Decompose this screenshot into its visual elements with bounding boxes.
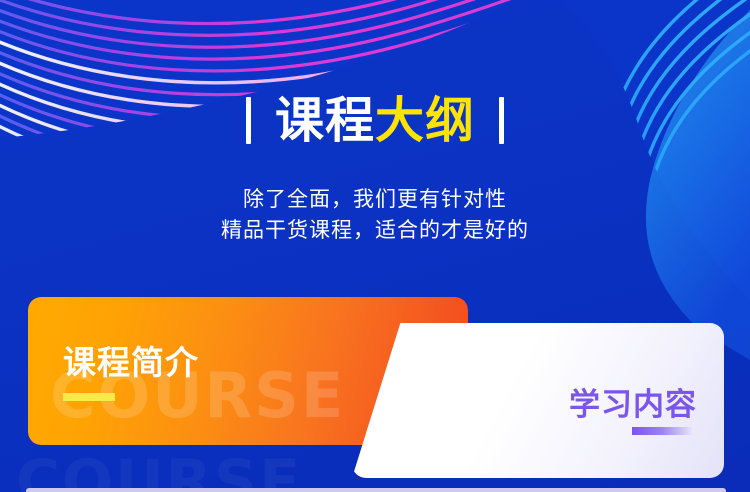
ghost-watermark-text: COURSE [16,447,302,492]
title-text: 课程大纲 [275,96,475,145]
subtitle-line-1: 除了全面，我们更有针对性 [0,184,750,215]
subtitle-block: 除了全面，我们更有针对性 精品干货课程，适合的才是好的 [0,184,750,246]
card-course-intro-underline [63,393,115,401]
page-title: 课程大纲 [0,96,750,145]
wave-top-left [0,0,610,178]
title-text-primary: 课程 [275,92,375,149]
course-outline-poster: 课程大纲 除了全面，我们更有针对性 精品干货课程，适合的才是好的 COURSE … [0,0,750,492]
card-study-content-underline [632,427,692,435]
wave-right [540,0,750,360]
bottom-edge-bar [26,488,726,492]
card-study-content[interactable]: 学习内容 [352,323,724,478]
title-rule-right [499,97,504,144]
title-rule-left [246,97,251,144]
card-study-content-label: 学习内容 [569,379,697,424]
card-course-intro-label: 课程简介 [63,336,199,384]
subtitle-line-2: 精品干货课程，适合的才是好的 [0,215,750,246]
title-text-accent: 大纲 [375,92,475,149]
